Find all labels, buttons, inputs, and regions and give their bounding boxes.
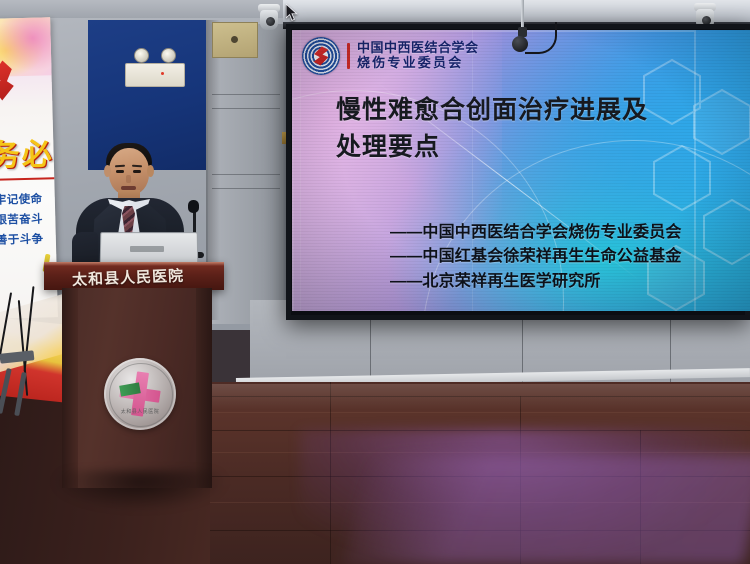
screen-vert-line-1 xyxy=(300,30,301,311)
speaker-nose xyxy=(126,175,131,183)
emergency-light xyxy=(125,63,185,87)
cacm-seal-icon xyxy=(302,37,340,75)
slide-org-name: 中国中西医结合学会 烧伤专业委员会 xyxy=(357,41,479,70)
ceiling-camera-left xyxy=(258,4,280,30)
banner-headline: 务必 xyxy=(0,129,56,171)
speaker-ear-left xyxy=(104,165,111,177)
emergency-lamp-right xyxy=(161,48,176,63)
desk-microphone-head xyxy=(188,200,199,213)
wall-top-strip xyxy=(0,0,290,18)
podium-right-edge xyxy=(196,288,212,488)
blue-wall-panel xyxy=(88,20,206,170)
slide-org-logo: 中国中西医结合学会 烧伤专业委员会 xyxy=(302,37,479,75)
speaker-eye-right xyxy=(133,170,141,173)
banner-slogans: 牢记使命 艰苦奋斗 善于斗争 xyxy=(0,189,58,251)
screen-light-reflection-2 xyxy=(343,455,750,564)
hospital-cross-emblem: 太和县人民医院 xyxy=(104,358,176,430)
slide-body-line-1: ——中国中西医结合学会烧伤专业委员会 xyxy=(390,221,750,245)
screenshot-root: 中国中西医结合学会 烧伤专业委员会 慢性难愈合创面治疗进展及 处理要点 ——中国… xyxy=(0,0,750,564)
banner-rule xyxy=(0,177,54,181)
laptop-logo xyxy=(130,246,164,252)
speaker-eye-left xyxy=(116,170,124,173)
speaker-ear-right xyxy=(147,165,154,177)
podium-left-edge xyxy=(62,288,78,488)
org-name-line1: 中国中西医结合学会 xyxy=(357,41,479,56)
logo-divider-bar xyxy=(347,43,350,69)
slide-title-line-2: 处理要点 xyxy=(336,129,736,166)
hanging-microphone xyxy=(512,36,528,52)
slide-body: ——中国中西医结合学会烧伤专业委员会 ——中国红基会徐荣祥再生生命公益基金 ——… xyxy=(390,221,750,294)
presentation-screen[interactable]: 中国中西医结合学会 烧伤专业委员会 慢性难愈合创面治疗进展及 处理要点 ——中国… xyxy=(292,30,750,311)
beige-wall-box-dot xyxy=(231,36,238,43)
banner-slogan-2: 艰苦奋斗 xyxy=(0,209,58,231)
slide-body-line-2: ——中国红基会徐荣祥再生生命公益基金 xyxy=(390,245,750,269)
org-name-line2: 烧伤专业委员会 xyxy=(357,56,479,71)
banner-slogan-1: 牢记使命 xyxy=(0,189,57,211)
emergency-light-led xyxy=(161,72,164,75)
slide-body-line-3: ——北京荣祥再生医学研究所 xyxy=(390,270,750,294)
slide-title-line-1: 慢性难愈合创面治疗进展及 xyxy=(336,92,736,129)
microphone-rod xyxy=(521,0,524,30)
slide-title: 慢性难愈合创面治疗进展及 处理要点 xyxy=(336,92,736,165)
podium-shadow xyxy=(54,470,226,510)
mouse-cursor xyxy=(286,4,298,22)
emergency-lamp-left xyxy=(134,48,149,63)
emblem-caption: 太和县人民医院 xyxy=(116,408,164,415)
banner-slogan-3: 善于斗争 xyxy=(0,229,58,251)
